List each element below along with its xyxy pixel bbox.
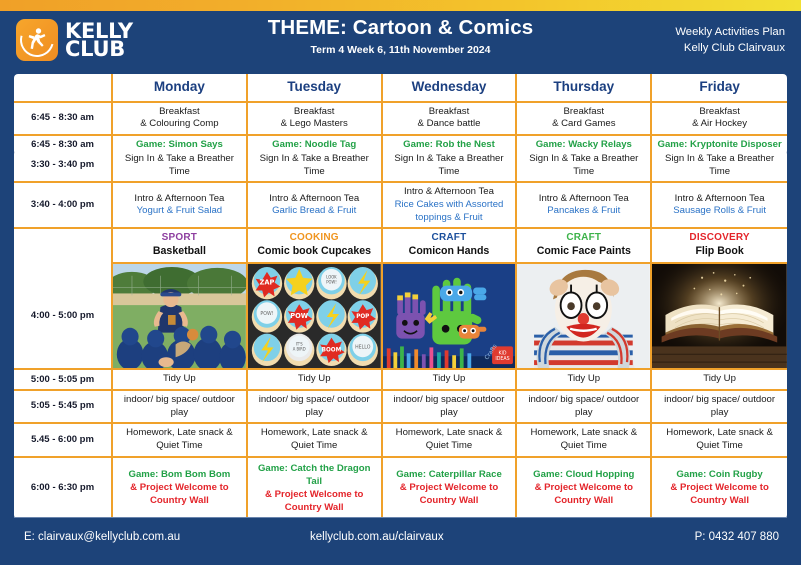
cell-line-2: Quiet Time: [156, 440, 202, 453]
cell-line-2: Quiet Time: [561, 440, 607, 453]
activity-photo-tuesday: ZAP LOOK POW! POW! POW POP IT'S: [248, 264, 383, 370]
time-label-tea: 3:40 - 4:00 pm: [14, 183, 113, 229]
cell-line-1: Sign In & Take a Breather: [529, 153, 638, 166]
cell-line-1: Breakfast: [699, 106, 740, 119]
cell-line-1: indoor/ big space/ outdoor: [394, 394, 505, 407]
cell-line-2: Pancakes & Fruit: [547, 205, 620, 218]
table-row: Breakfast & Dance battle: [383, 103, 518, 136]
page-footer: E: clairvaux@kellyclub.com.au kellyclub.…: [0, 517, 801, 565]
table-row: Sign In & Take a Breather Time: [652, 150, 787, 183]
cell-line-2: Garlic Bread & Fruit: [272, 205, 356, 218]
activity-category: SPORT: [162, 231, 197, 244]
evening-game: Game: Cloud Hopping: [533, 469, 634, 482]
evening-game: Game: Coin Rugby: [676, 469, 762, 482]
table-row: Sign In & Take a Breather Time: [248, 150, 383, 183]
cell-line-1: Intro & Afternoon Tea: [675, 193, 765, 206]
table-row: Homework, Late snack & Quiet Time: [652, 424, 787, 457]
svg-text:POP: POP: [356, 314, 369, 320]
time-label-signin: 3:30 - 3:40 pm: [14, 150, 113, 183]
table-row: Homework, Late snack & Quiet Time: [517, 424, 652, 457]
open-book-photo: [652, 264, 787, 368]
header-meta: Weekly Activities Plan Kelly Club Clairv…: [675, 24, 785, 57]
evening-thursday: Game: Cloud Hopping & Project Welcome to…: [517, 458, 652, 520]
cell-line-2: Rice Cakes with Assorted: [395, 199, 504, 212]
cell-line-3: toppings & Fruit: [415, 212, 482, 225]
activity-photo-friday: [652, 264, 787, 370]
footer-email[interactable]: E: clairvaux@kellyclub.com.au: [0, 531, 310, 543]
evening-project: & Project Welcome to Country Wall: [521, 482, 646, 508]
table-row: Homework, Late snack & Quiet Time: [248, 424, 383, 457]
cell-line-1: Breakfast: [159, 106, 200, 119]
handprint-monsters-craft-photo: KID IDEAS Crafts: [383, 264, 516, 368]
morning-schedule-table: Monday Tuesday Wednesday Thursday Friday…: [14, 74, 787, 155]
activity-name: Comicon Hands: [409, 245, 490, 259]
cell-line-2: play: [171, 407, 189, 420]
time-label-homework: 5.45 - 6:00 pm: [14, 424, 113, 457]
activity-category: CRAFT: [432, 231, 467, 244]
clown-face-paint-photo: [517, 264, 650, 368]
day-header-friday: Friday: [652, 74, 787, 103]
cell-line-2: Time: [304, 166, 325, 179]
cell-line-1: Breakfast: [564, 106, 605, 119]
table-row: Breakfast & Air Hockey: [652, 103, 787, 136]
cell-line-2: Sausage Rolls & Fruit: [673, 205, 766, 218]
table-row: Intro & Afternoon Tea Yogurt & Fruit Sal…: [113, 183, 248, 229]
table-row: Homework, Late snack & Quiet Time: [113, 424, 248, 457]
footer-phone[interactable]: P: 0432 407 880: [540, 531, 801, 543]
evening-wednesday: Game: Caterpillar Race & Project Welcome…: [383, 458, 518, 520]
cell-line-1: Sign In & Take a Breather: [125, 153, 234, 166]
cell-line-2: Quiet Time: [696, 440, 742, 453]
day-header-wednesday: Wednesday: [383, 74, 518, 103]
svg-text:POW!: POW!: [326, 280, 337, 285]
evening-game: Game: Catch the Dragon Tail: [252, 463, 377, 489]
cell-line-2: Time: [439, 166, 460, 179]
activity-name: Comic Face Paints: [537, 245, 631, 259]
svg-text:IDEAS: IDEAS: [495, 357, 509, 363]
table-row: Intro & Afternoon Tea Garlic Bread & Fru…: [248, 183, 383, 229]
cell-line-2: Yogurt & Fruit Salad: [137, 205, 223, 218]
cell-line-1: indoor/ big space/ outdoor: [259, 394, 370, 407]
time-label-tidy: 5:00 - 5:05 pm: [14, 370, 113, 391]
table-row: Intro & Afternoon Tea Pancakes & Fruit: [517, 183, 652, 229]
evening-monday: Game: Bom Bom Bom & Project Welcome to C…: [113, 458, 248, 520]
page-header: KELLY CLUB THEME: Cartoon & Comics Term …: [0, 11, 801, 71]
activity-category: DISCOVERY: [689, 231, 749, 244]
evening-game: Game: Caterpillar Race: [396, 469, 502, 482]
svg-text:BOOM: BOOM: [321, 348, 341, 354]
cell-line-1: Sign In & Take a Breather: [394, 153, 503, 166]
day-header-thursday: Thursday: [517, 74, 652, 103]
cell-line-2: & Colouring Comp: [140, 118, 218, 131]
cell-line-2: play: [711, 407, 729, 420]
tidy-friday: Tidy Up: [652, 370, 787, 391]
activity-name: Flip Book: [695, 245, 743, 259]
cell-line-2: & Dance battle: [418, 118, 481, 131]
cell-line-1: Intro & Afternoon Tea: [134, 193, 224, 206]
activity-photo-thursday: [517, 264, 652, 370]
svg-text:HELLO: HELLO: [355, 345, 371, 351]
cell-line-1: Intro & Afternoon Tea: [404, 186, 494, 199]
activity-category: COOKING: [290, 231, 339, 244]
svg-text:ZAP: ZAP: [259, 279, 274, 287]
cell-line-2: & Air Hockey: [692, 118, 747, 131]
table-row: indoor/ big space/ outdoor play: [517, 391, 652, 424]
time-label-activity: 4:00 - 5:00 pm: [14, 264, 113, 370]
day-header-monday: Monday: [113, 74, 248, 103]
centre-name-label: Kelly Club Clairvaux: [675, 40, 785, 56]
table-row: Sign In & Take a Breather Time: [383, 150, 518, 183]
activity-header-wednesday: CRAFT Comicon Hands: [383, 229, 518, 264]
activity-header-tuesday: COOKING Comic book Cupcakes: [248, 229, 383, 264]
evening-project: & Project Welcome to Country Wall: [252, 489, 377, 515]
activity-header-friday: DISCOVERY Flip Book: [652, 229, 787, 264]
table-row: Sign In & Take a Breather Time: [517, 150, 652, 183]
cell-line-1: Sign In & Take a Breather: [260, 153, 369, 166]
cell-line-2: play: [440, 407, 458, 420]
cell-line-1: Intro & Afternoon Tea: [539, 193, 629, 206]
cell-line-1: indoor/ big space/ outdoor: [528, 394, 639, 407]
cell-line-1: Breakfast: [294, 106, 335, 119]
activity-time-spacer: [14, 229, 113, 264]
activities-plan-page: KELLY CLUB THEME: Cartoon & Comics Term …: [0, 0, 801, 565]
evening-tuesday: Game: Catch the Dragon Tail & Project We…: [248, 458, 383, 520]
tidy-monday: Tidy Up: [113, 370, 248, 391]
footer-divider: [14, 517, 787, 518]
table-row: indoor/ big space/ outdoor play: [652, 391, 787, 424]
tidy-tuesday: Tidy Up: [248, 370, 383, 391]
time-label-play: 5:05 - 5:45 pm: [14, 391, 113, 424]
cell-line-1: Homework, Late snack &: [666, 427, 773, 440]
table-row: Breakfast & Colouring Comp: [113, 103, 248, 136]
cell-line-2: Time: [169, 166, 190, 179]
cell-line-1: Homework, Late snack &: [396, 427, 503, 440]
svg-text:POW!: POW!: [260, 311, 273, 317]
activity-header-thursday: CRAFT Comic Face Paints: [517, 229, 652, 264]
cell-line-1: indoor/ big space/ outdoor: [124, 394, 235, 407]
svg-text:POW: POW: [290, 312, 308, 320]
table-row: Homework, Late snack & Quiet Time: [383, 424, 518, 457]
time-label-breakfast: 6:45 - 8:30 am: [14, 103, 113, 136]
cell-line-1: indoor/ big space/ outdoor: [664, 394, 775, 407]
activity-header-monday: SPORT Basketball: [113, 229, 248, 264]
table-row: Intro & Afternoon Tea Sausage Rolls & Fr…: [652, 183, 787, 229]
activity-photo-monday: [113, 264, 248, 370]
evening-project: & Project Welcome to Country Wall: [656, 482, 783, 508]
table-row: Breakfast & Lego Masters: [248, 103, 383, 136]
evening-game: Game: Bom Bom Bom: [128, 469, 230, 482]
afternoon-schedule-table: 3:30 - 3:40 pm Sign In & Take a Breather…: [14, 150, 787, 519]
activity-photo-wednesday: KID IDEAS Crafts: [383, 264, 518, 370]
footer-website[interactable]: kellyclub.com.au/clairvaux: [310, 531, 540, 543]
cell-line-1: Homework, Late snack &: [530, 427, 637, 440]
cell-line-2: play: [305, 407, 323, 420]
day-header-tuesday: Tuesday: [248, 74, 383, 103]
cell-line-1: Sign In & Take a Breather: [665, 153, 774, 166]
table-corner-cell: [14, 74, 113, 103]
comic-cupcakes-photo: ZAP LOOK POW! POW! POW POP IT'S: [248, 264, 381, 368]
cell-line-2: play: [575, 407, 593, 420]
table-row: Sign In & Take a Breather Time: [113, 150, 248, 183]
cell-line-2: Time: [709, 166, 730, 179]
evening-friday: Game: Coin Rugby & Project Welcome to Co…: [652, 458, 787, 520]
table-row: indoor/ big space/ outdoor play: [113, 391, 248, 424]
table-row: indoor/ big space/ outdoor play: [383, 391, 518, 424]
cell-line-2: Quiet Time: [426, 440, 472, 453]
cell-line-1: Breakfast: [429, 106, 470, 119]
top-gradient-bar: [0, 0, 801, 11]
basketball-coaching-photo: [113, 264, 246, 368]
table-row: indoor/ big space/ outdoor play: [248, 391, 383, 424]
activity-category: CRAFT: [566, 231, 601, 244]
activity-name: Comic book Cupcakes: [257, 245, 371, 259]
svg-text:A BIRD: A BIRD: [292, 347, 305, 352]
cell-line-1: Homework, Late snack &: [126, 427, 233, 440]
evening-project: & Project Welcome to Country Wall: [387, 482, 512, 508]
cell-line-2: & Card Games: [552, 118, 615, 131]
cell-line-2: & Lego Masters: [281, 118, 348, 131]
weekly-plan-label: Weekly Activities Plan: [675, 24, 785, 40]
activity-name: Basketball: [153, 245, 206, 259]
cell-line-2: Time: [573, 166, 594, 179]
table-row: Breakfast & Card Games: [517, 103, 652, 136]
tidy-wednesday: Tidy Up: [383, 370, 518, 391]
cell-line-1: Homework, Late snack &: [261, 427, 368, 440]
tidy-thursday: Tidy Up: [517, 370, 652, 391]
svg-text:KID: KID: [498, 351, 506, 357]
table-row: Intro & Afternoon Tea Rice Cakes with As…: [383, 183, 518, 229]
evening-project: & Project Welcome to Country Wall: [117, 482, 242, 508]
cell-line-2: Quiet Time: [291, 440, 337, 453]
time-label-evening: 6:00 - 6:30 pm: [14, 458, 113, 520]
cell-line-1: Intro & Afternoon Tea: [269, 193, 359, 206]
